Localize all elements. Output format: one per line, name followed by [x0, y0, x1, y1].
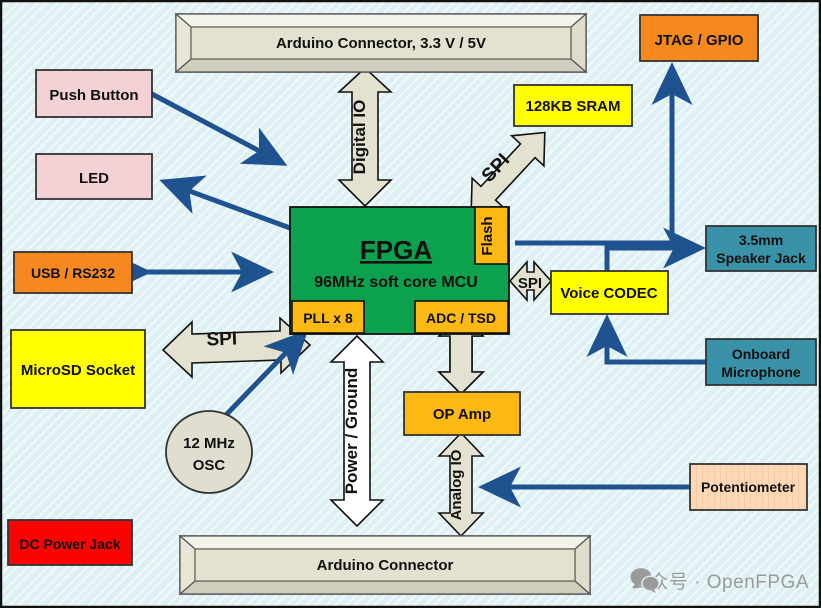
block-pll[interactable]: PLL x 8: [292, 301, 364, 333]
block-op-amp[interactable]: OP Amp: [404, 392, 520, 435]
block-led-label: LED: [79, 170, 109, 187]
block-diagram-canvas: Digital IO Power / Ground Analog IO SPI …: [0, 0, 821, 608]
bus-arrow-spi-codec-label: SPI: [518, 275, 542, 292]
block-arduino-connector-bottom-label: Arduino Connector: [317, 557, 454, 574]
block-led[interactable]: LED: [36, 154, 152, 199]
block-osc-label-line2: OSC: [193, 457, 226, 474]
block-arduino-connector-top-label: Arduino Connector, 3.3 V / 5V: [276, 35, 486, 52]
block-arduino-connector-top[interactable]: Arduino Connector, 3.3 V / 5V: [176, 14, 586, 72]
block-osc-label-line1: 12 MHz: [183, 435, 235, 452]
block-fpga-title: FPGA: [360, 235, 432, 265]
bus-arrow-analog-io-label: Analog IO: [448, 449, 465, 520]
block-push-button-label: Push Button: [49, 87, 138, 104]
block-microsd-socket[interactable]: MicroSD Socket: [11, 330, 145, 408]
block-op-amp-label: OP Amp: [433, 406, 491, 423]
block-onboard-microphone-label-line2: Microphone: [721, 364, 801, 380]
bus-arrow-spi-microsd-label: SPI: [206, 328, 237, 350]
block-speaker-jack-label-line1: 3.5mm: [739, 232, 783, 248]
bus-arrow-power-ground-label: Power / Ground: [342, 368, 361, 495]
block-adc-tsd[interactable]: ADC / TSD: [415, 301, 508, 333]
block-pll-label: PLL x 8: [303, 310, 353, 326]
block-usb-rs232-label: USB / RS232: [31, 265, 115, 281]
block-dc-power-jack-label: DC Power Jack: [19, 536, 120, 552]
block-adc-tsd-label: ADC / TSD: [426, 310, 496, 326]
block-flash[interactable]: Flash: [475, 207, 508, 264]
block-voice-codec-label: Voice CODEC: [560, 285, 657, 302]
block-jtag-gpio[interactable]: JTAG / GPIO: [640, 15, 758, 61]
wechat-icon: [630, 567, 660, 593]
block-onboard-microphone-label-line1: Onboard: [732, 346, 790, 362]
block-voice-codec[interactable]: Voice CODEC: [551, 271, 668, 314]
block-potentiometer[interactable]: Potentiometer: [690, 464, 807, 510]
block-dc-power-jack[interactable]: DC Power Jack: [8, 520, 132, 565]
block-osc[interactable]: 12 MHz OSC: [166, 411, 252, 493]
block-push-button[interactable]: Push Button: [36, 70, 152, 117]
watermark: 公众号 · OpenFPGA: [630, 567, 809, 594]
block-speaker-jack-label-line2: Speaker Jack: [716, 250, 806, 266]
block-fpga-subtitle: 96MHz soft core MCU: [314, 274, 478, 291]
bus-arrow-digital-io-label: Digital IO: [350, 100, 369, 175]
block-jtag-gpio-label: JTAG / GPIO: [655, 32, 744, 49]
block-sram-label: 128KB SRAM: [525, 98, 620, 115]
block-arduino-connector-bottom[interactable]: Arduino Connector: [180, 536, 590, 594]
block-microsd-socket-label: MicroSD Socket: [21, 362, 135, 379]
block-usb-rs232[interactable]: USB / RS232: [14, 252, 132, 293]
block-speaker-jack[interactable]: 3.5mm Speaker Jack: [706, 226, 816, 271]
block-potentiometer-label: Potentiometer: [701, 479, 796, 495]
block-flash-label: Flash: [479, 216, 496, 255]
block-onboard-microphone[interactable]: Onboard Microphone: [706, 339, 816, 385]
diagram-svg: Digital IO Power / Ground Analog IO SPI …: [0, 0, 821, 608]
block-sram[interactable]: 128KB SRAM: [514, 85, 632, 126]
